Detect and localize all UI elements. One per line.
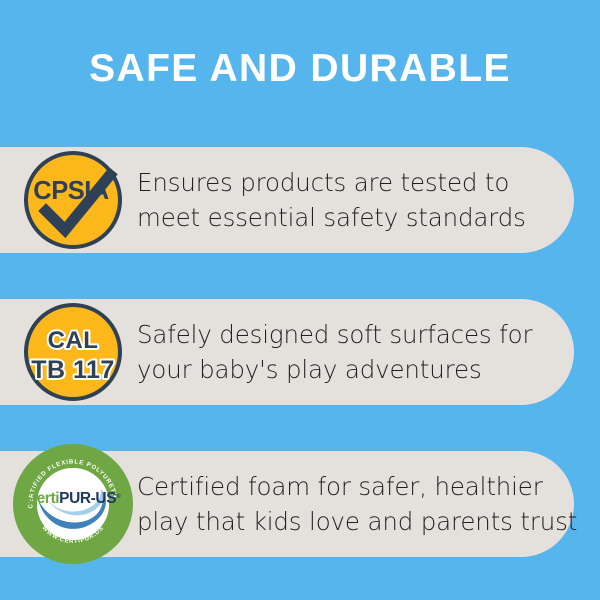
feature-text-line-2: meet essential safety standards: [137, 200, 557, 235]
feature-text-line-2: play that kids love and parents trust: [137, 504, 557, 539]
feature-text: Certified foam for safer, healthier play…: [137, 469, 557, 539]
infographic-card: SAFE AND DURABLE Ensures products are te…: [0, 0, 600, 600]
feature-text-line-2: your baby's play adventures: [137, 352, 557, 387]
certipur-wordmark: CertiPUR-US®: [26, 490, 121, 507]
feature-text-line-1: Safely designed soft surfaces for: [137, 317, 557, 352]
feature-row-cal-tb-117: Safely designed soft surfaces for your b…: [0, 299, 600, 405]
cal-tb-117-badge-label-line-2: TB 117: [31, 356, 115, 384]
cpsia-badge: CPSIA: [22, 149, 124, 251]
feature-text-line-1: Ensures products are tested to: [137, 165, 557, 200]
cal-tb-117-badge-label-line-1: CAL: [48, 327, 99, 354]
feature-row-certipur-us: Certified foam for safer, healthier play…: [0, 451, 600, 557]
cal-tb-117-badge: CAL TB 117: [22, 301, 124, 403]
feature-text: Safely designed soft surfaces for your b…: [137, 317, 557, 387]
certipur-wordmark-part-1: Certi: [26, 490, 59, 507]
certipur-wordmark-part-2: PUR-US: [59, 490, 116, 507]
feature-text-line-1: Certified foam for safer, healthier: [137, 469, 557, 504]
page-title: SAFE AND DURABLE: [0, 46, 600, 92]
feature-row-cpsia: Ensures products are tested to meet esse…: [0, 147, 600, 253]
feature-text: Ensures products are tested to meet esse…: [137, 165, 557, 235]
certipur-us-badge: CONTAINS CERTIFIED FLEXIBLE POLYURETHANE…: [22, 453, 124, 555]
